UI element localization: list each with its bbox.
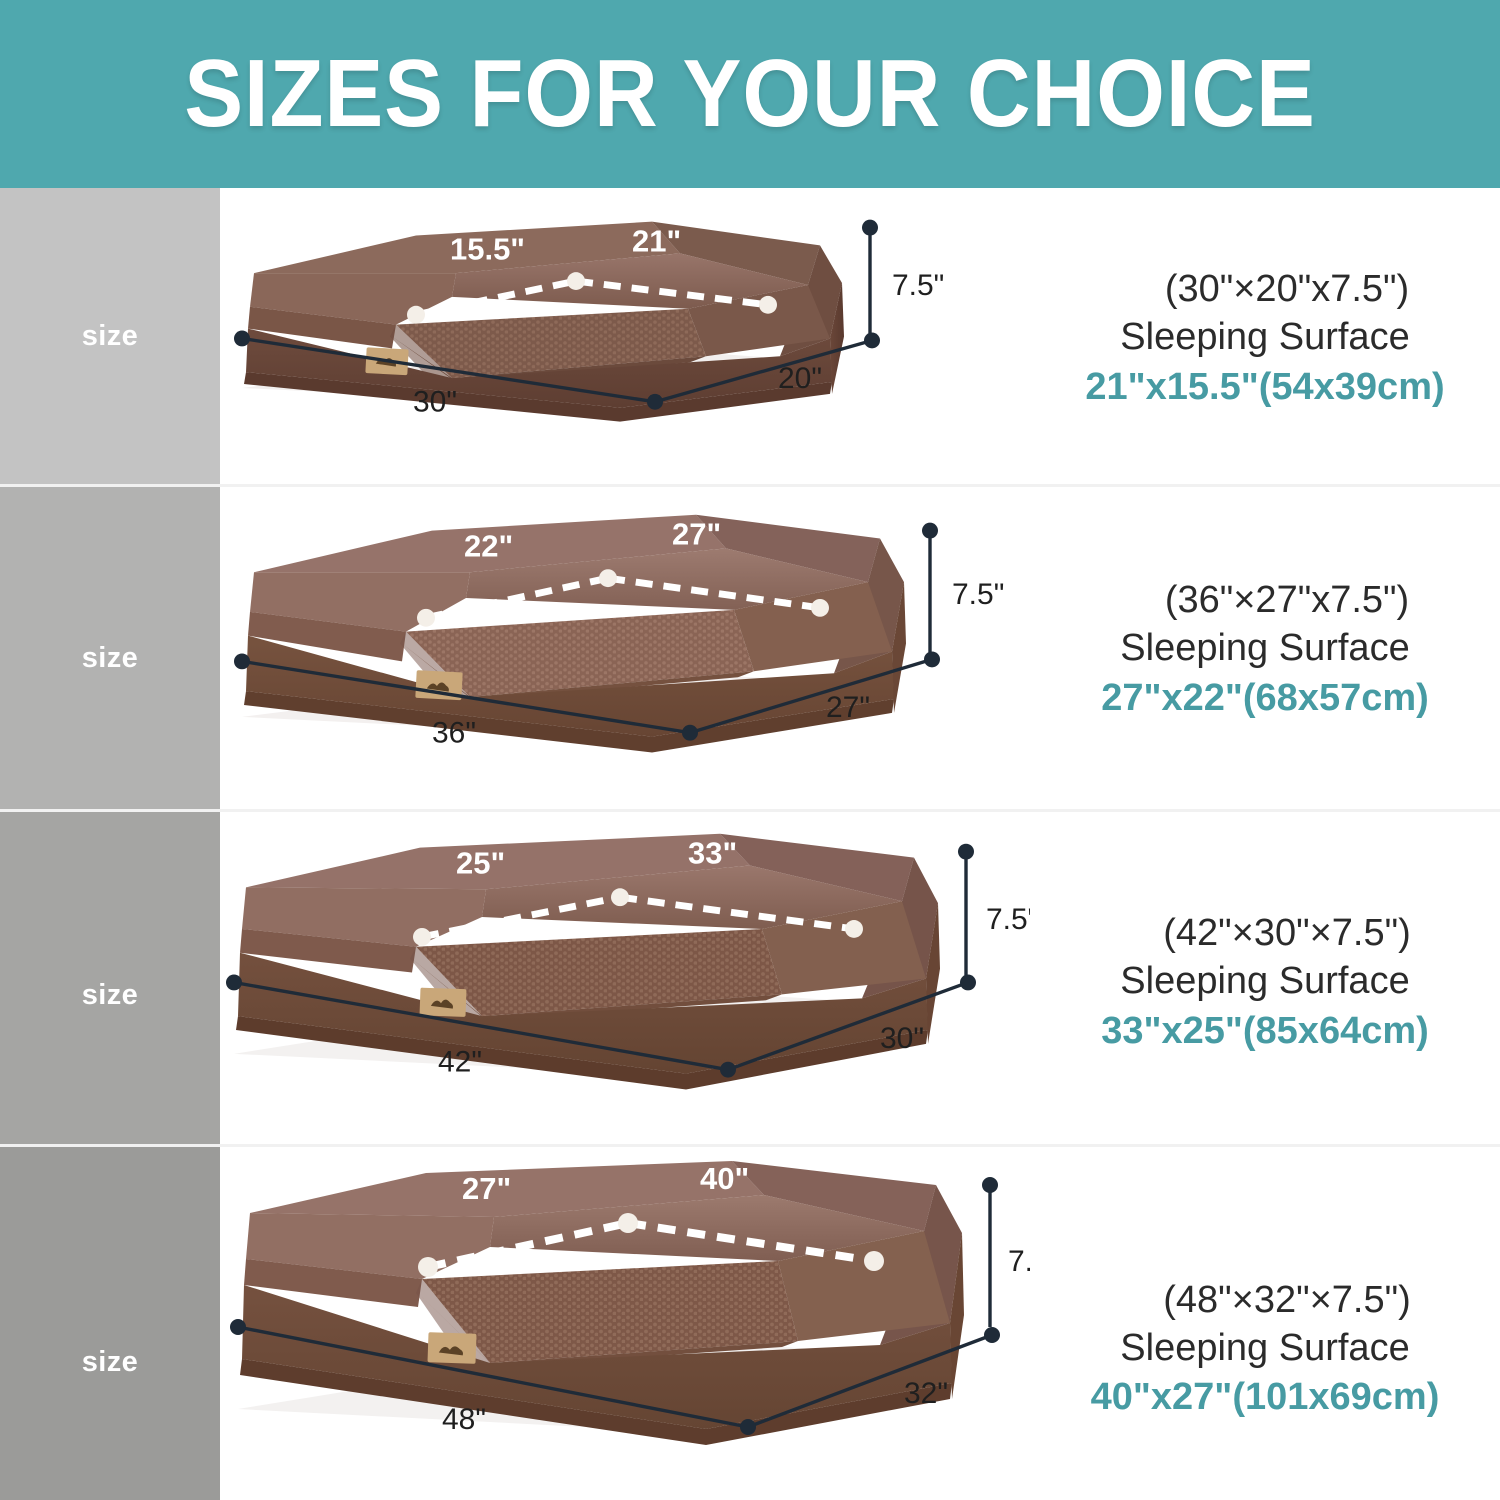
inner-width-label: 25": [456, 846, 505, 881]
size-cell-label: size: [82, 979, 138, 1012]
size-cell: size: [0, 812, 220, 1144]
brand-tag: [420, 988, 467, 1017]
overall-dimensions: (30"×20"x7.5"): [1121, 266, 1409, 313]
height-label: 7.5": [952, 578, 1004, 611]
sleeping-surface-value: 40"x27"(101x69cm): [1091, 1373, 1440, 1422]
length-label: 30": [413, 386, 457, 419]
inner-length-label: 21": [632, 223, 681, 258]
sleeping-surface-label: Sleeping Surface: [1120, 957, 1409, 1006]
sleeping-surface-label: Sleeping Surface: [1120, 624, 1409, 673]
bed-svg: 27" 40" 48" 32" 7.5": [220, 1147, 1030, 1500]
width-label: 27": [826, 691, 870, 724]
bed-illustration-xlarge: 27" 40" 48" 32" 7.5": [220, 1147, 1030, 1500]
size-chart-page: SIZES FOR YOUR CHOICE size: [0, 0, 1500, 1500]
height-label: 7.5": [892, 269, 944, 302]
width-label: 20": [778, 362, 822, 395]
page-header-banner: SIZES FOR YOUR CHOICE: [0, 0, 1500, 188]
length-label: 36": [432, 717, 476, 750]
inner-width-label: 27": [462, 1171, 511, 1206]
sleeping-surface-label: Sleeping Surface: [1120, 1324, 1409, 1373]
inner-length-label: 40": [700, 1161, 749, 1196]
inner-length-label: 27": [672, 517, 721, 552]
bed-svg: 25" 33" 42" 30" 7.5": [220, 812, 1030, 1144]
width-label: 30": [880, 1022, 924, 1055]
length-label: 48": [442, 1403, 486, 1436]
table-row: size: [0, 188, 1500, 487]
height-label: 7.5": [986, 903, 1030, 936]
bed-illustration-small: 15.5" 21" 30" 20": [220, 188, 1030, 484]
table-row: size: [0, 1147, 1500, 1500]
bed-svg: 22" 27" 36" 27" 7.5": [220, 487, 1030, 809]
bed-svg: 15.5" 21" 30" 20": [220, 188, 1030, 484]
size-cell: size: [0, 487, 220, 809]
size-description: (48"×32"×7.5") Sleeping Surface 40"x27"(…: [1030, 1147, 1500, 1500]
width-label: 32": [904, 1377, 948, 1410]
page-title: SIZES FOR YOUR CHOICE: [184, 39, 1316, 149]
height-label: 7.5": [1008, 1245, 1030, 1278]
bed-illustration-large: 25" 33" 42" 30" 7.5": [220, 812, 1030, 1144]
inner-width-label: 15.5": [450, 231, 525, 266]
overall-dimensions: (36"×27"x7.5"): [1121, 577, 1409, 624]
size-cell-label: size: [82, 320, 138, 353]
size-cell: size: [0, 188, 220, 484]
length-label: 42": [438, 1046, 482, 1079]
table-row: size: [0, 487, 1500, 812]
size-description: (36"×27"x7.5") Sleeping Surface 27"x22"(…: [1030, 487, 1500, 809]
size-description: (30"×20"x7.5") Sleeping Surface 21"x15.5…: [1030, 188, 1500, 484]
size-cell-label: size: [82, 642, 138, 675]
inner-length-label: 33": [688, 836, 737, 871]
size-cell-label: size: [82, 1346, 138, 1379]
size-table: size: [0, 188, 1500, 1500]
overall-dimensions: (48"×32"×7.5"): [1119, 1277, 1411, 1324]
size-cell: size: [0, 1147, 220, 1500]
table-row: size: [0, 812, 1500, 1147]
sleeping-surface-value: 21"x15.5"(54x39cm): [1085, 363, 1444, 412]
sleeping-surface-value: 33"x25"(85x64cm): [1101, 1007, 1429, 1056]
sleeping-surface-label: Sleeping Surface: [1120, 313, 1409, 362]
sleeping-surface-value: 27"x22"(68x57cm): [1101, 674, 1429, 723]
overall-dimensions: (42"×30"×7.5"): [1119, 910, 1411, 957]
brand-tag: [427, 1332, 476, 1364]
size-description: (42"×30"×7.5") Sleeping Surface 33"x25"(…: [1030, 812, 1500, 1144]
inner-width-label: 22": [464, 528, 513, 563]
bed-illustration-medium: 22" 27" 36" 27" 7.5": [220, 487, 1030, 809]
